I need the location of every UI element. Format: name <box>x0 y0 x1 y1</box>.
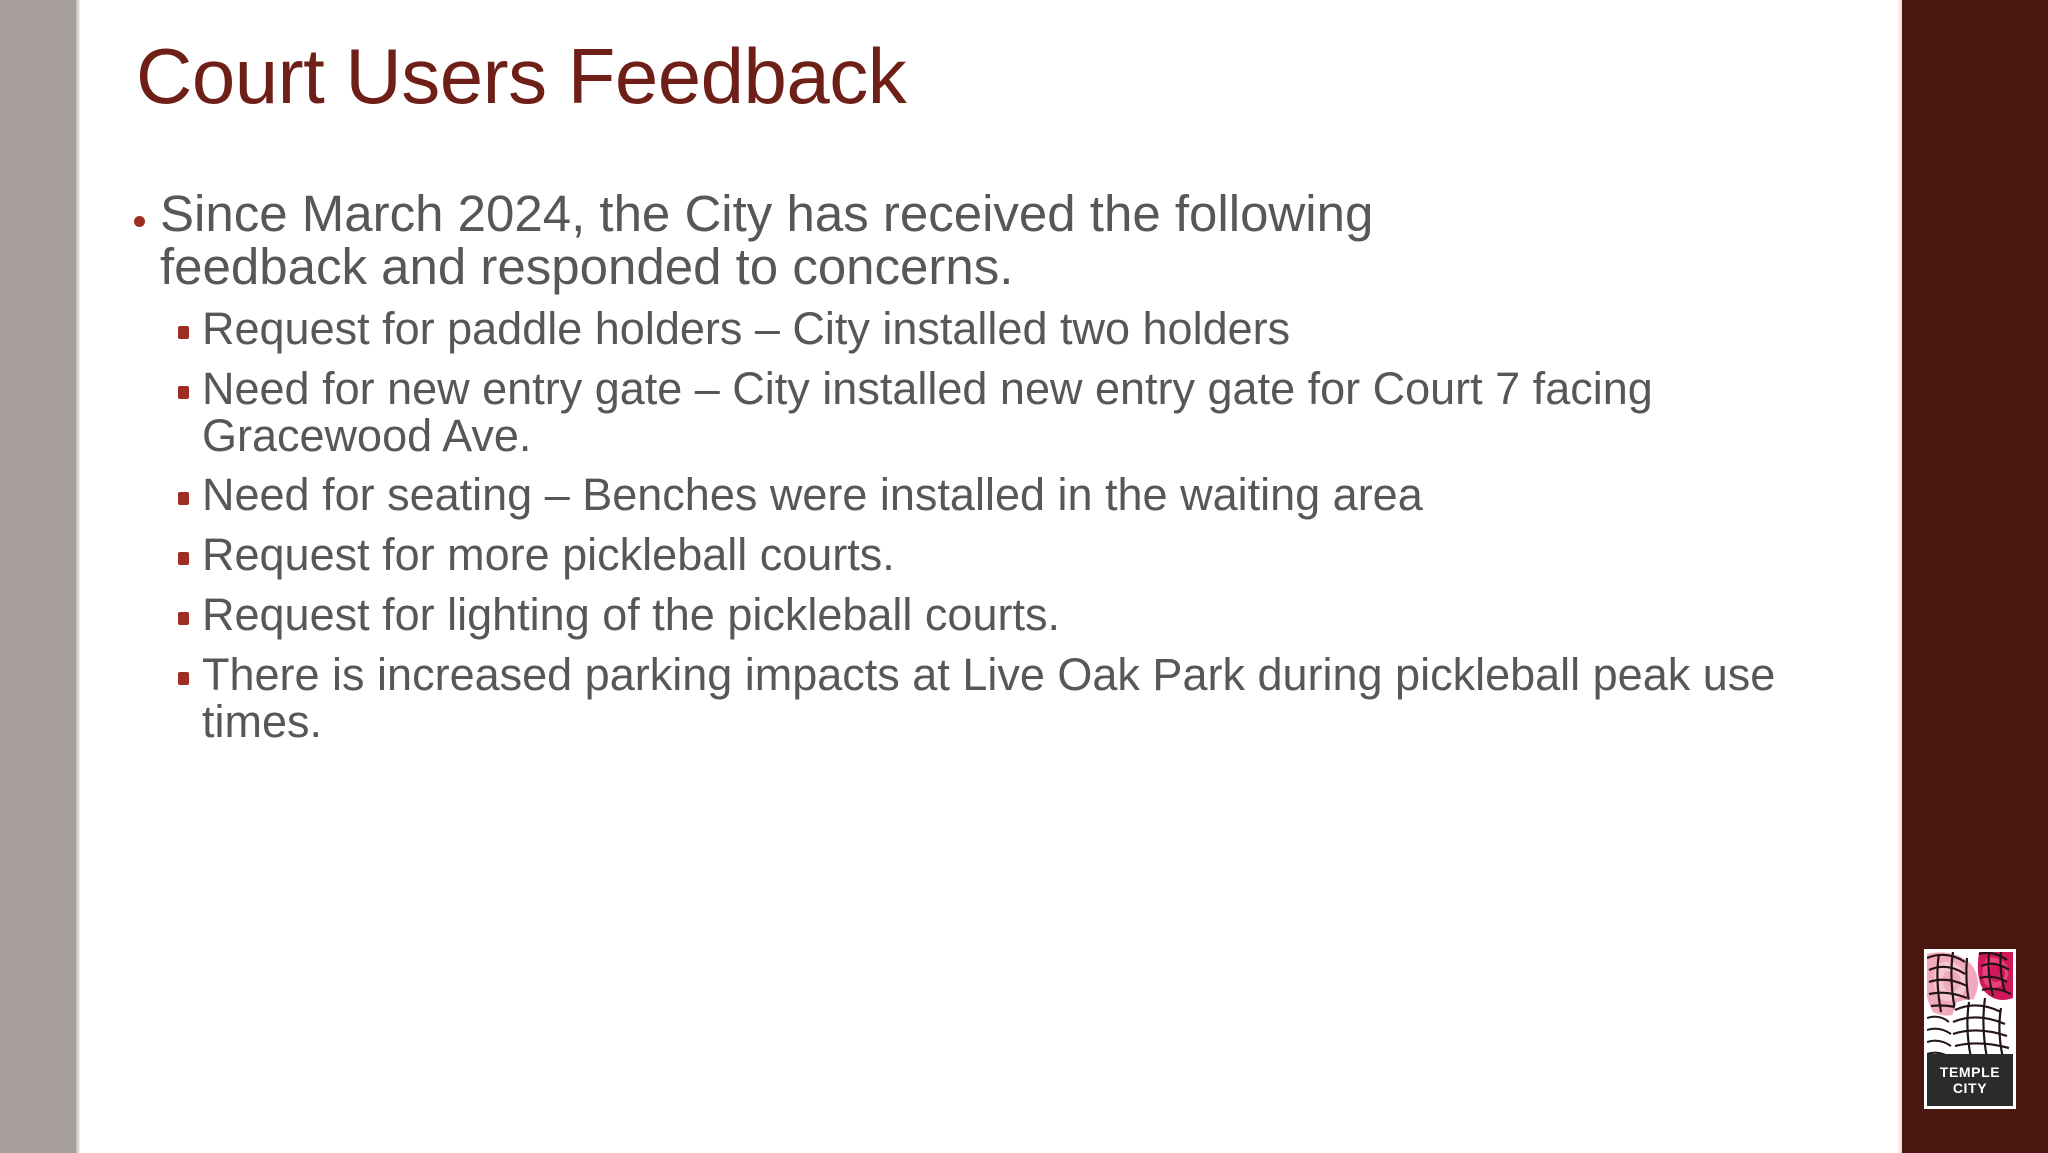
bullet-item: Request for more pickleball courts. <box>174 532 1842 579</box>
bullet-text: Since March 2024, the City has received … <box>160 188 1580 293</box>
left-band-edge <box>76 0 80 1153</box>
slide-title: Court Users Feedback <box>136 36 1776 117</box>
slide-body: Since March 2024, the City has received … <box>128 188 1868 745</box>
bullet-item: Request for paddle holders – City instal… <box>174 306 1842 353</box>
bullet-item: There is increased parking impacts at Li… <box>174 652 1842 746</box>
bullet-list-level-2: Request for paddle holders – City instal… <box>128 306 1868 745</box>
slide: Court Users Feedback Since March 2024, t… <box>0 0 2048 1153</box>
bullet-item: Need for seating – Benches were installe… <box>174 472 1842 519</box>
bullet-item: Since March 2024, the City has received … <box>128 188 1580 293</box>
rose-logo-icon <box>1927 952 2013 1060</box>
temple-city-logo: TEMPLE CITY <box>1924 949 2016 1109</box>
logo-line-1: TEMPLE <box>1940 1064 2000 1080</box>
logo-line-2: CITY <box>1953 1080 1987 1096</box>
bullet-item: Need for new entry gate – City installed… <box>174 366 1842 460</box>
left-decorative-band <box>0 0 76 1153</box>
bullet-sublist-wrapper: Request for paddle holders – City instal… <box>128 306 1868 745</box>
bullet-list-level-1: Since March 2024, the City has received … <box>128 188 1868 745</box>
right-band-edge <box>1897 0 1902 1153</box>
logo-wordmark: TEMPLE CITY <box>1927 1054 2013 1106</box>
bullet-item: Request for lighting of the pickleball c… <box>174 592 1842 639</box>
